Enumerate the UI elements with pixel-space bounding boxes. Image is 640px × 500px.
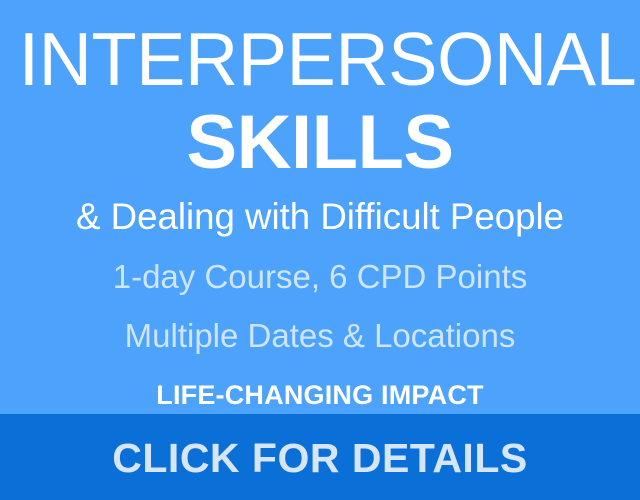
detail-line-dates: Multiple Dates & Locations (14, 319, 626, 354)
cta-bar[interactable]: CLICK FOR DETAILS (0, 414, 640, 500)
detail-line-course: 1-day Course, 6 CPD Points (14, 260, 626, 295)
subheadline: & Dealing with Difficult People (17, 198, 623, 237)
cta-label: CLICK FOR DETAILS (112, 438, 527, 479)
promo-banner[interactable]: INTERPERSONAL SKILLS & Dealing with Diff… (0, 0, 640, 500)
headline-line-2: SKILLS (14, 105, 626, 181)
impact-statement: LIFE-CHANGING IMPACT (14, 381, 626, 409)
headline-line-1: INTERPERSONAL (19, 22, 622, 97)
banner-content: INTERPERSONAL SKILLS & Dealing with Diff… (0, 0, 640, 414)
headline-block: INTERPERSONAL SKILLS (14, 0, 626, 181)
